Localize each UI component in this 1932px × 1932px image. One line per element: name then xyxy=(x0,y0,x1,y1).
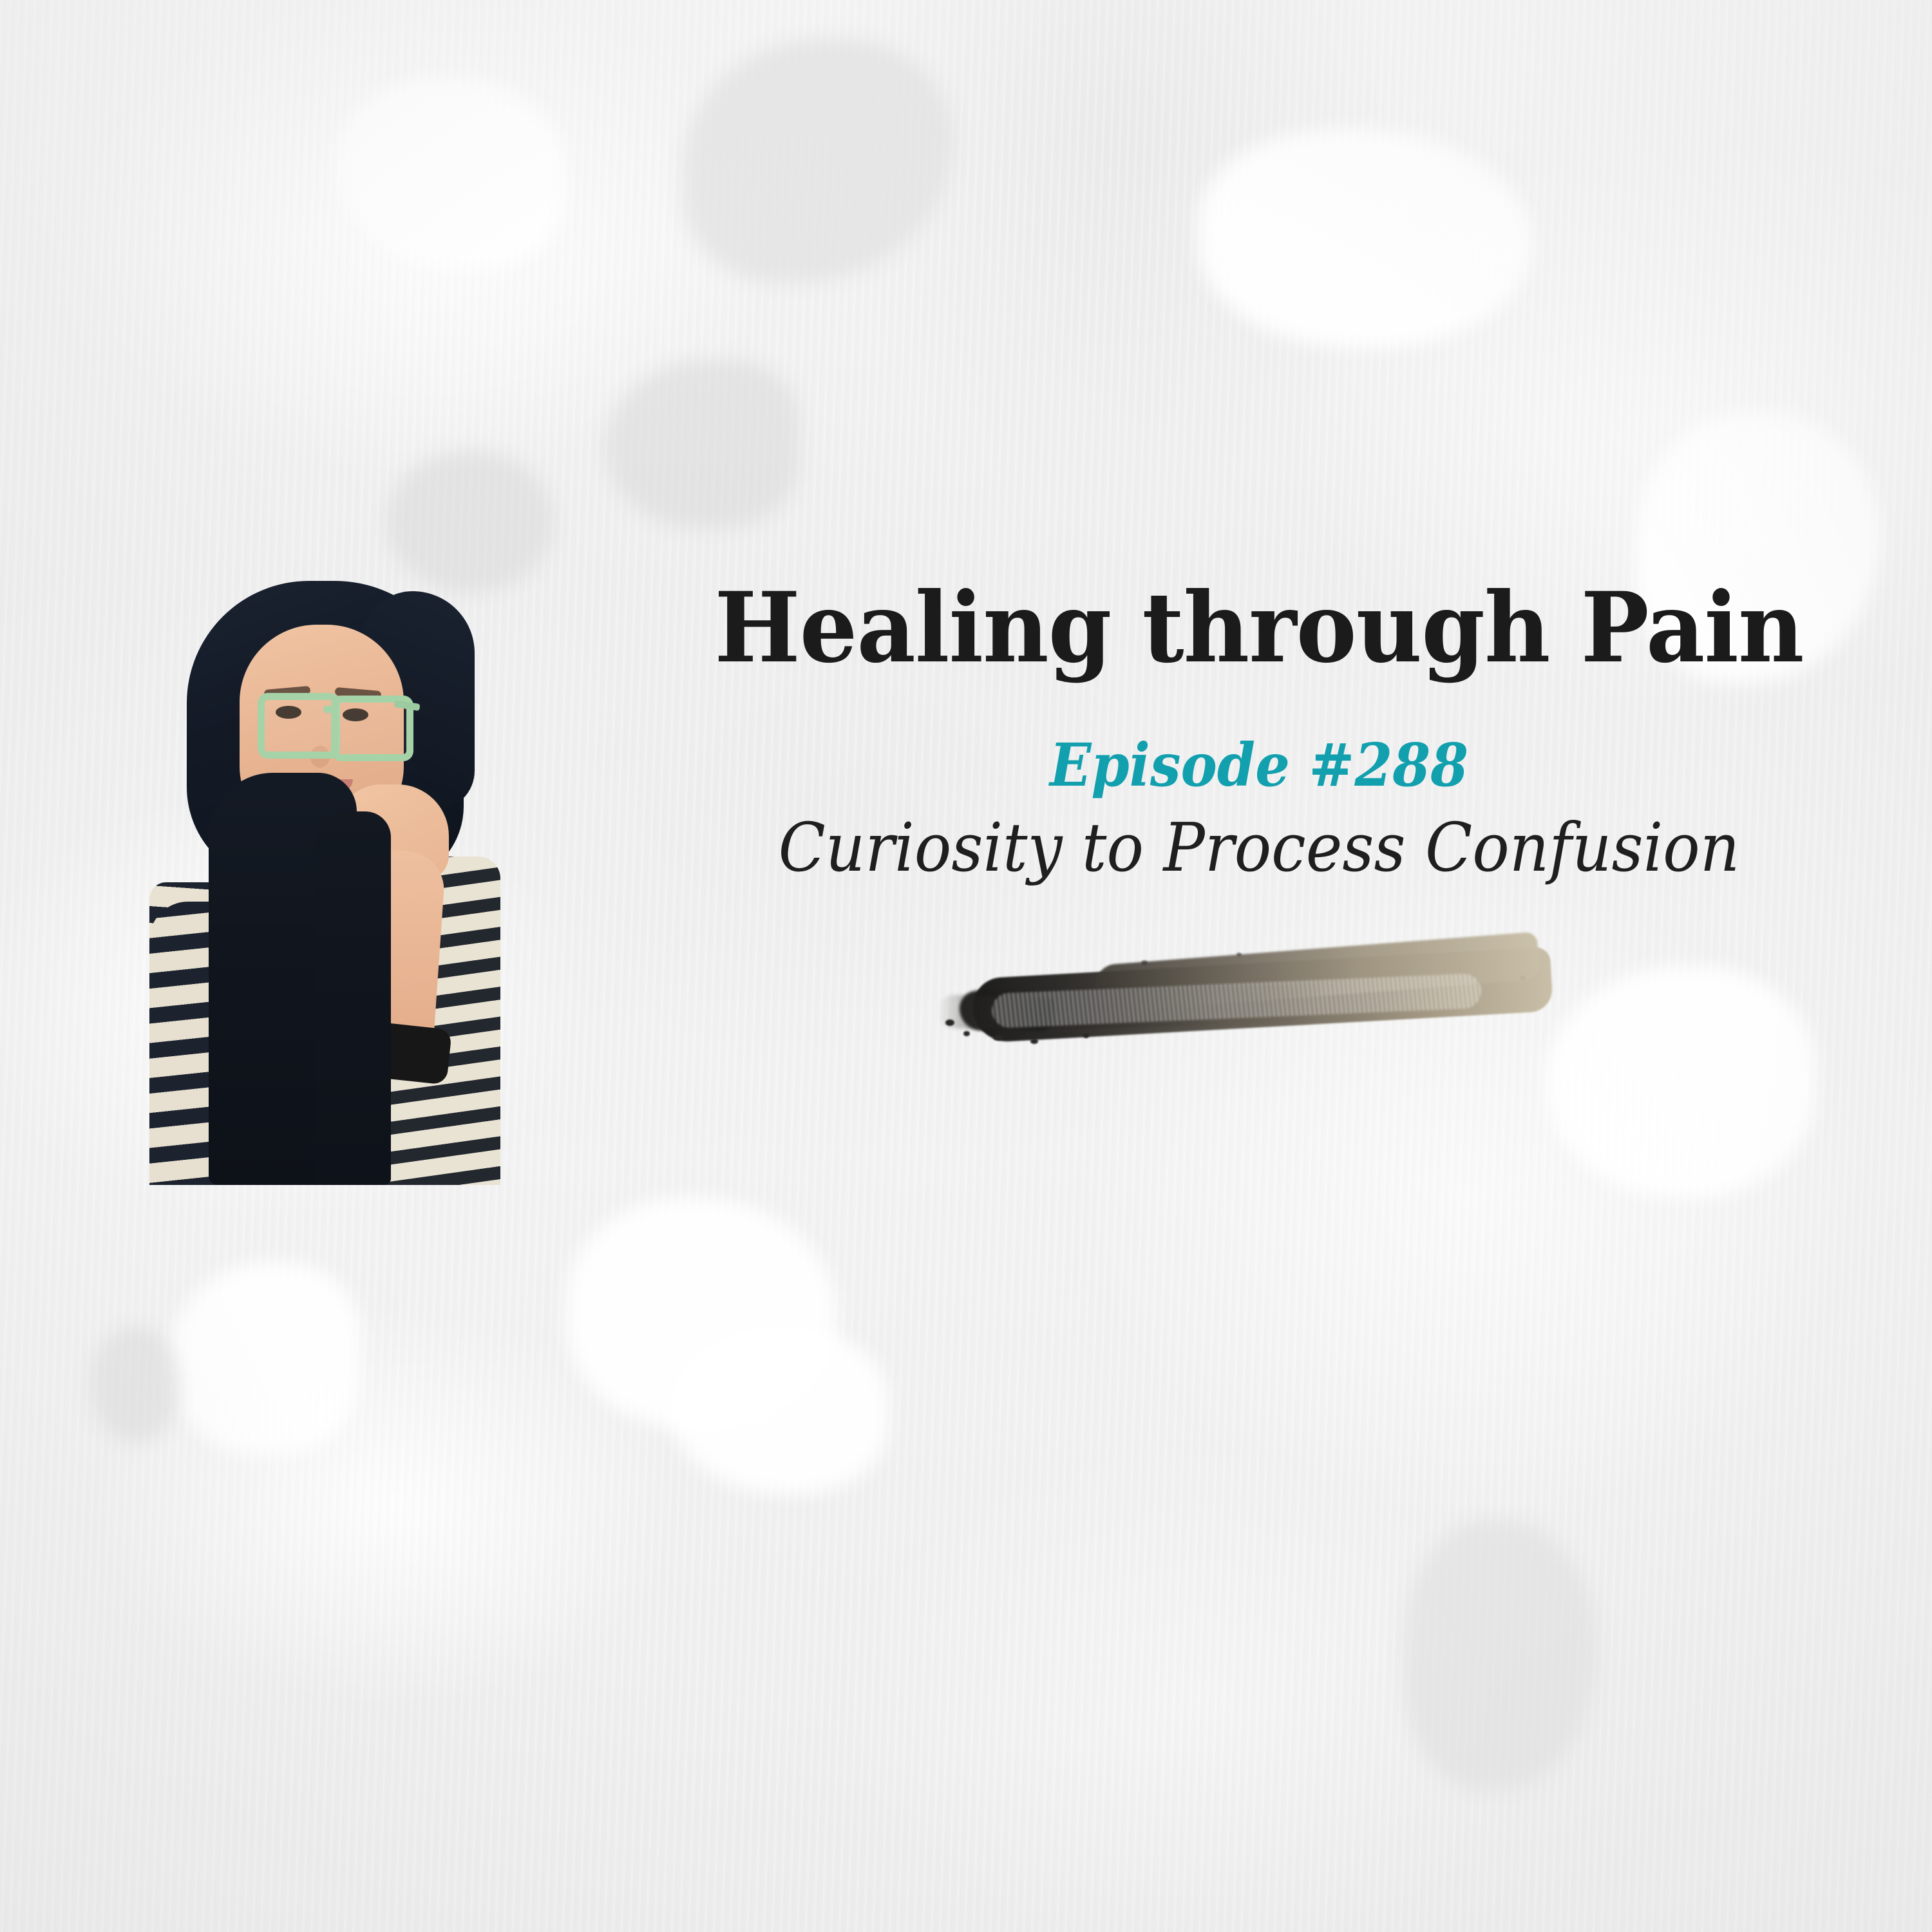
brush-speck xyxy=(1520,976,1526,980)
episode-subtitle: Curiosity to Process Confusion xyxy=(726,813,1792,883)
hair-front-right xyxy=(314,811,391,1185)
brush-speck xyxy=(1141,960,1148,965)
brush-speck xyxy=(993,1035,1003,1041)
brush-speck xyxy=(963,1031,970,1036)
glasses-bridge xyxy=(323,706,337,713)
episode-number-label: Episode #288 xyxy=(726,735,1792,795)
page-title: Healing through Pain xyxy=(714,580,1804,676)
brush-speck xyxy=(1030,1039,1038,1044)
brush-speck xyxy=(945,1019,954,1026)
brush-speck xyxy=(1083,1034,1089,1038)
glasses-lens-left xyxy=(258,693,340,759)
host-portrait xyxy=(149,580,500,1185)
podcast-cover-art: Healing through Pain Episode #288 Curios… xyxy=(0,0,1932,1932)
brush-speck xyxy=(1236,952,1242,956)
cover-text-block: Healing through Pain Episode #288 Curios… xyxy=(679,580,1839,883)
brush-stroke-accent xyxy=(934,937,1591,1066)
